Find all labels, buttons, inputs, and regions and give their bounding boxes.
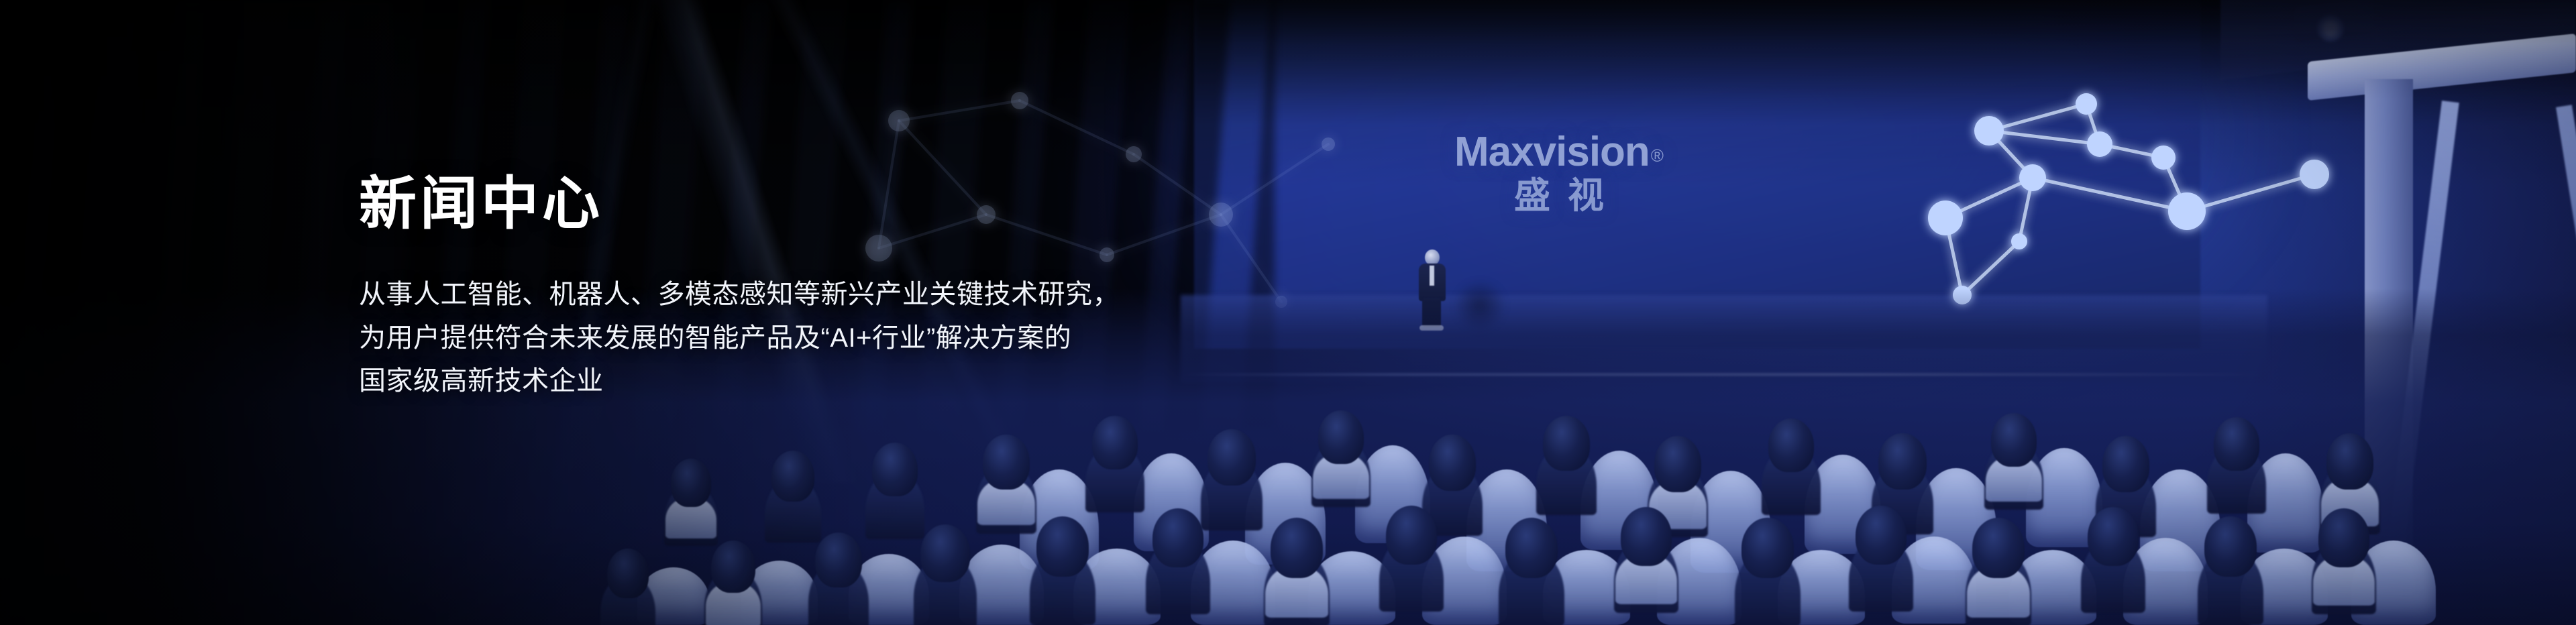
network-node <box>1126 146 1142 162</box>
network-edge <box>1107 215 1221 255</box>
network-node <box>1928 201 1963 235</box>
audience-person-head <box>607 549 649 598</box>
audience-person-head <box>1972 518 2025 578</box>
network-node <box>2087 131 2112 157</box>
network-edge <box>2187 174 2314 211</box>
network-edge <box>1020 101 1134 154</box>
audience-person-head <box>1543 416 1590 471</box>
logo-chinese-name: 盛视 <box>1409 177 1727 215</box>
network-node <box>1011 92 1028 109</box>
audience-person-head <box>1271 518 1323 578</box>
registered-trademark-icon: ® <box>1651 146 1664 166</box>
audience-person-head <box>1654 436 1701 492</box>
network-edge <box>1134 154 1221 215</box>
audience-person-head <box>920 524 970 582</box>
network-node <box>2076 93 2097 115</box>
hero-description: 从事人工智能、机器人、多模态感知等新兴产业关键技术研究， 为用户提供符合未来发展… <box>359 273 1120 403</box>
audience-person-head <box>1152 508 1203 567</box>
network-node <box>2300 160 2329 189</box>
network-node <box>888 110 910 131</box>
maxvision-stage-logo: Maxvision® 盛视 <box>1391 131 1727 215</box>
network-node <box>2011 233 2027 249</box>
audience-person-head <box>872 443 918 496</box>
audience-person-head <box>1207 429 1256 486</box>
logo-wordmark-row: Maxvision® <box>1391 131 1727 173</box>
hero-copy-block: 新闻中心 从事人工智能、机器人、多模态感知等新兴产业关键技术研究， 为用户提供符… <box>359 173 1120 403</box>
network-edge <box>1989 104 2086 131</box>
audience-person-head <box>1878 433 1927 490</box>
audience-person-head <box>2318 508 2369 567</box>
network-node <box>1322 137 1335 151</box>
audience-person-head <box>1318 410 1364 464</box>
audience-person-head <box>815 532 862 587</box>
audience-person-head <box>1741 518 1794 578</box>
news-center-hero-banner: Maxvision® 盛视 新闻中心 从事人工智能、机器人、多模态感知等新兴产业… <box>0 0 2576 625</box>
audience-person-head <box>711 541 755 593</box>
network-node <box>1974 116 2004 146</box>
hero-description-line-2: 为用户提供符合未来发展的智能产品及“AI+行业”解决方案的 <box>359 317 1120 360</box>
audience-person-head <box>671 459 711 507</box>
audience-person-head <box>771 451 814 502</box>
audience-person-head <box>1505 518 1558 578</box>
audience-person-head <box>1856 506 1907 565</box>
network-node <box>2168 192 2206 230</box>
network-edge <box>1989 131 2100 144</box>
audience-person-head <box>2214 417 2259 471</box>
hero-description-line-1: 从事人工智能、机器人、多模态感知等新兴产业关键技术研究， <box>359 273 1120 317</box>
audience-person-head <box>2204 516 2257 577</box>
audience-person-head <box>2088 507 2139 566</box>
network-edge <box>899 101 1020 121</box>
audience-person-head <box>2326 433 2373 490</box>
audience-person-head <box>1092 416 1138 469</box>
network-node <box>1209 203 1233 227</box>
audience-person-head <box>1036 516 1089 577</box>
page-title: 新闻中心 <box>359 173 1120 235</box>
audience-person-head <box>1386 506 1437 565</box>
speaker-shirt <box>1430 266 1434 286</box>
network-node <box>2151 146 2176 170</box>
audience-person-head <box>1429 435 1476 491</box>
network-edge <box>1962 241 2019 295</box>
audience-person-head <box>1991 413 2037 467</box>
audience-person-head <box>983 435 1030 490</box>
audience-person-head <box>1768 418 1814 472</box>
network-edge <box>1221 144 1328 215</box>
audience-person-head <box>2102 436 2149 492</box>
hero-description-line-3: 国家级高新技术企业 <box>359 359 1120 403</box>
audience-person-head <box>1621 507 1672 566</box>
network-node <box>2019 164 2046 191</box>
network-edge <box>2033 178 2187 211</box>
logo-wordmark: Maxvision <box>1454 131 1650 173</box>
